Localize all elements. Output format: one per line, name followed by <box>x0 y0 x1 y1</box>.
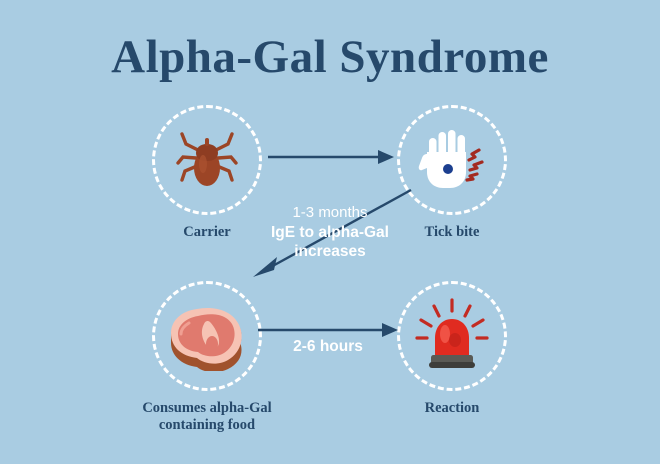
infographic-canvas: Alpha-Gal Syndrome <box>0 0 660 464</box>
siren-icon <box>400 284 504 388</box>
caption-carrier-to-tickbite: 1-3 months IgE to alpha-Gal increases <box>250 203 410 261</box>
page-title: Alpha-Gal Syndrome <box>0 30 660 84</box>
node-label-food-line1: Consumes alpha-Gal <box>132 400 282 417</box>
node-food: Consumes alpha-Gal containing food <box>132 281 282 434</box>
caption-detail-top-line2: increases <box>250 242 410 261</box>
steak-icon <box>155 284 259 388</box>
caption-detail-top-line1: IgE to alpha-Gal <box>250 223 410 242</box>
node-label-food: Consumes alpha-Gal containing food <box>132 400 282 434</box>
node-reaction: Reaction <box>377 281 527 417</box>
dashed-circle-reaction <box>397 281 507 391</box>
hand-bite-icon <box>400 108 504 212</box>
node-label-food-line2: containing food <box>132 417 282 434</box>
connector-carrier-to-tickbite <box>268 145 394 169</box>
caption-duration-top: 1-3 months <box>250 203 410 223</box>
bite-dot <box>443 164 453 174</box>
caption-food-to-reaction: 2-6 hours <box>258 338 398 356</box>
node-label-reaction: Reaction <box>377 400 527 417</box>
dashed-circle-food <box>152 281 262 391</box>
